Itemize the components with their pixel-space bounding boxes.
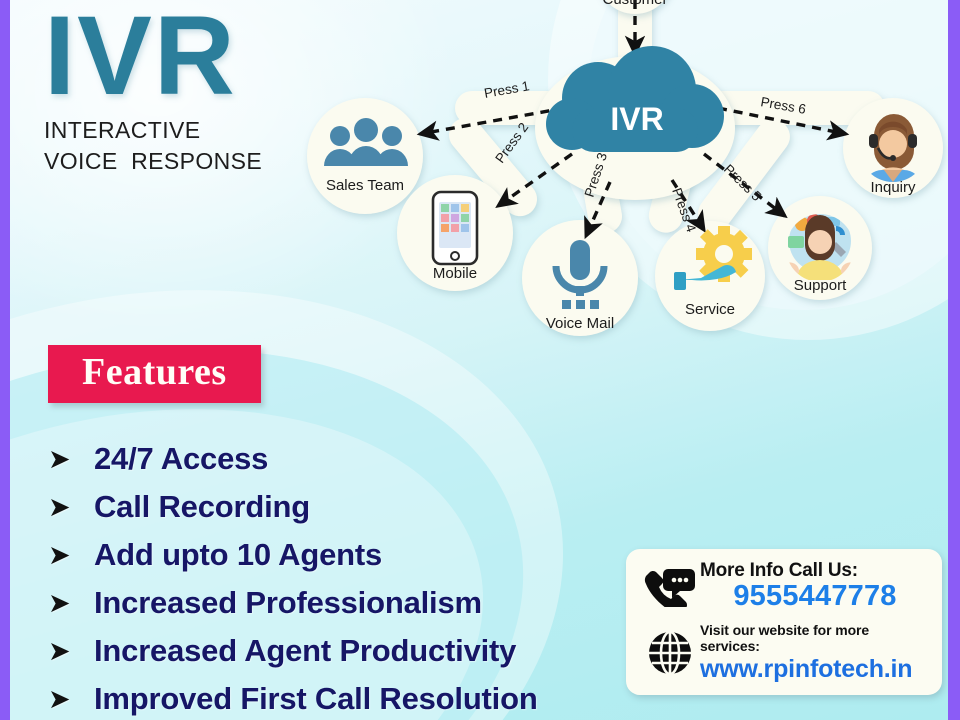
feature-label: Call Recording	[94, 489, 310, 525]
arrow-bullet-icon: ➤	[48, 686, 94, 713]
list-item: ➤ Increased Professionalism	[48, 579, 538, 627]
list-item: ➤ Call Recording	[48, 483, 538, 531]
phone-chat-icon	[640, 567, 700, 607]
mobile-node: Mobile	[433, 192, 477, 282]
arrow-bullet-icon: ➤	[48, 446, 94, 473]
globe-icon	[640, 629, 700, 677]
feature-label: Add upto 10 Agents	[94, 537, 382, 573]
mobile-label: Mobile	[433, 265, 477, 282]
ivr-cloud-node: IVR	[546, 46, 724, 152]
list-item: ➤ Add upto 10 Agents	[48, 531, 538, 579]
list-item: ➤ Increased Agent Productivity	[48, 627, 538, 675]
list-item: ➤ 24/7 Access	[48, 435, 538, 483]
features-section: Features ➤ 24/7 Access ➤ Call Recording …	[48, 345, 538, 720]
contact-phone-row[interactable]: More Info Call Us: 9555447778	[640, 560, 930, 613]
support-label: Support	[794, 277, 847, 294]
smartphone-icon	[433, 192, 477, 264]
phone-number[interactable]: 9555447778	[700, 580, 930, 613]
page-title: IVR	[44, 4, 262, 107]
headline-block: IVR INTERACTIVE VOICE RESPONSE	[44, 4, 262, 176]
arrow-bullet-icon: ➤	[48, 494, 94, 521]
features-badge: Features	[48, 345, 261, 403]
arrow-bullet-icon: ➤	[48, 638, 94, 665]
arrow-bullet-icon: ➤	[48, 542, 94, 569]
arrow-bullet-icon: ➤	[48, 590, 94, 617]
website-prompt: Visit our website for more services:	[700, 622, 930, 654]
ivr-flow-diagram: Press 1 Press 2 Press 3 Press 4 Press 5 …	[280, 0, 960, 388]
subtitle-line-2: VOICE RESPONSE	[44, 146, 262, 177]
poster-canvas: IVR INTERACTIVE VOICE RESPONSE	[0, 0, 960, 720]
contact-website-text: Visit our website for more services: www…	[700, 622, 930, 684]
voice-mail-label: Voice Mail	[546, 315, 614, 332]
service-label: Service	[685, 301, 735, 318]
page-subtitle: INTERACTIVE VOICE RESPONSE	[44, 115, 262, 176]
contact-website-row[interactable]: Visit our website for more services: www…	[640, 622, 930, 684]
list-item: ➤ Improved First Call Resolution	[48, 675, 538, 720]
inquiry-label: Inquiry	[870, 179, 916, 196]
ivr-center-label: IVR	[610, 101, 663, 137]
press-label-2: Press 2	[492, 120, 531, 166]
feature-label: 24/7 Access	[94, 441, 268, 477]
feature-label: Increased Agent Productivity	[94, 633, 516, 669]
subtitle-line-1: INTERACTIVE	[44, 115, 262, 146]
contact-card: More Info Call Us: 9555447778	[626, 549, 942, 695]
customer-label: Customer	[602, 0, 667, 8]
sales-team-node: Sales Team	[324, 118, 408, 194]
feature-label: Increased Professionalism	[94, 585, 482, 621]
feature-label: Improved First Call Resolution	[94, 681, 538, 717]
contact-phone-text: More Info Call Us: 9555447778	[700, 560, 930, 613]
sales-team-label: Sales Team	[326, 177, 404, 194]
features-list: ➤ 24/7 Access ➤ Call Recording ➤ Add upt…	[48, 435, 538, 720]
call-us-label: More Info Call Us:	[700, 560, 930, 582]
website-url[interactable]: www.rpinfotech.in	[700, 655, 930, 684]
